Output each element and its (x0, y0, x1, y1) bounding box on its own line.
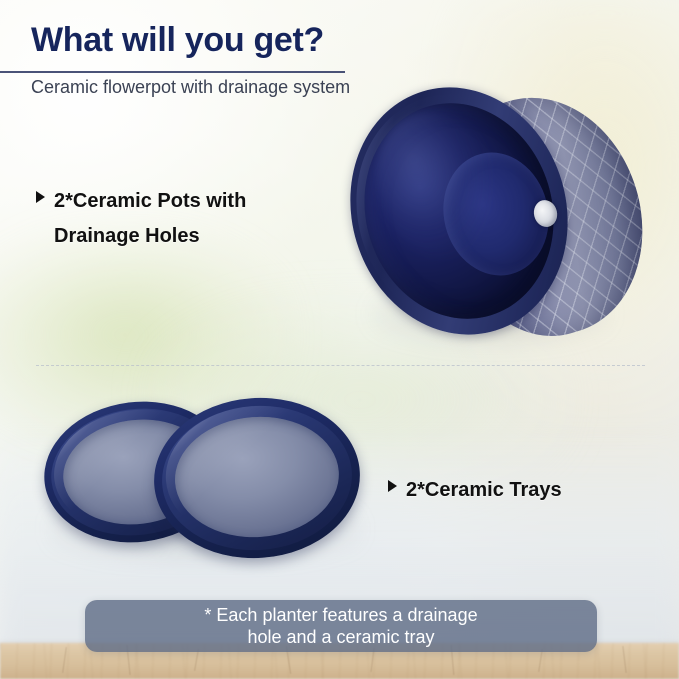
section-divider (36, 365, 645, 366)
title-underline-rule (0, 71, 345, 73)
note-banner: * Each planter features a drainage hole … (85, 600, 597, 652)
feature-item-trays: 2*Ceramic Trays (388, 473, 648, 508)
feature-item-pots: 2*Ceramic Pots with Drainage Holes (36, 184, 336, 254)
page-title: What will you get? (31, 21, 324, 60)
triangle-right-icon (388, 480, 397, 492)
feature-label-trays: 2*Ceramic Trays (406, 473, 562, 508)
infographic-canvas: What will you get? Ceramic flowerpot wit… (0, 0, 679, 679)
note-banner-text: * Each planter features a drainage hole … (192, 604, 489, 649)
ceramic-trays-image (38, 392, 368, 568)
ceramic-pot-image (352, 86, 642, 348)
triangle-right-icon (36, 191, 45, 203)
feature-label-pots: 2*Ceramic Pots with Drainage Holes (54, 184, 336, 254)
page-subtitle: Ceramic flowerpot with drainage system (31, 77, 350, 98)
